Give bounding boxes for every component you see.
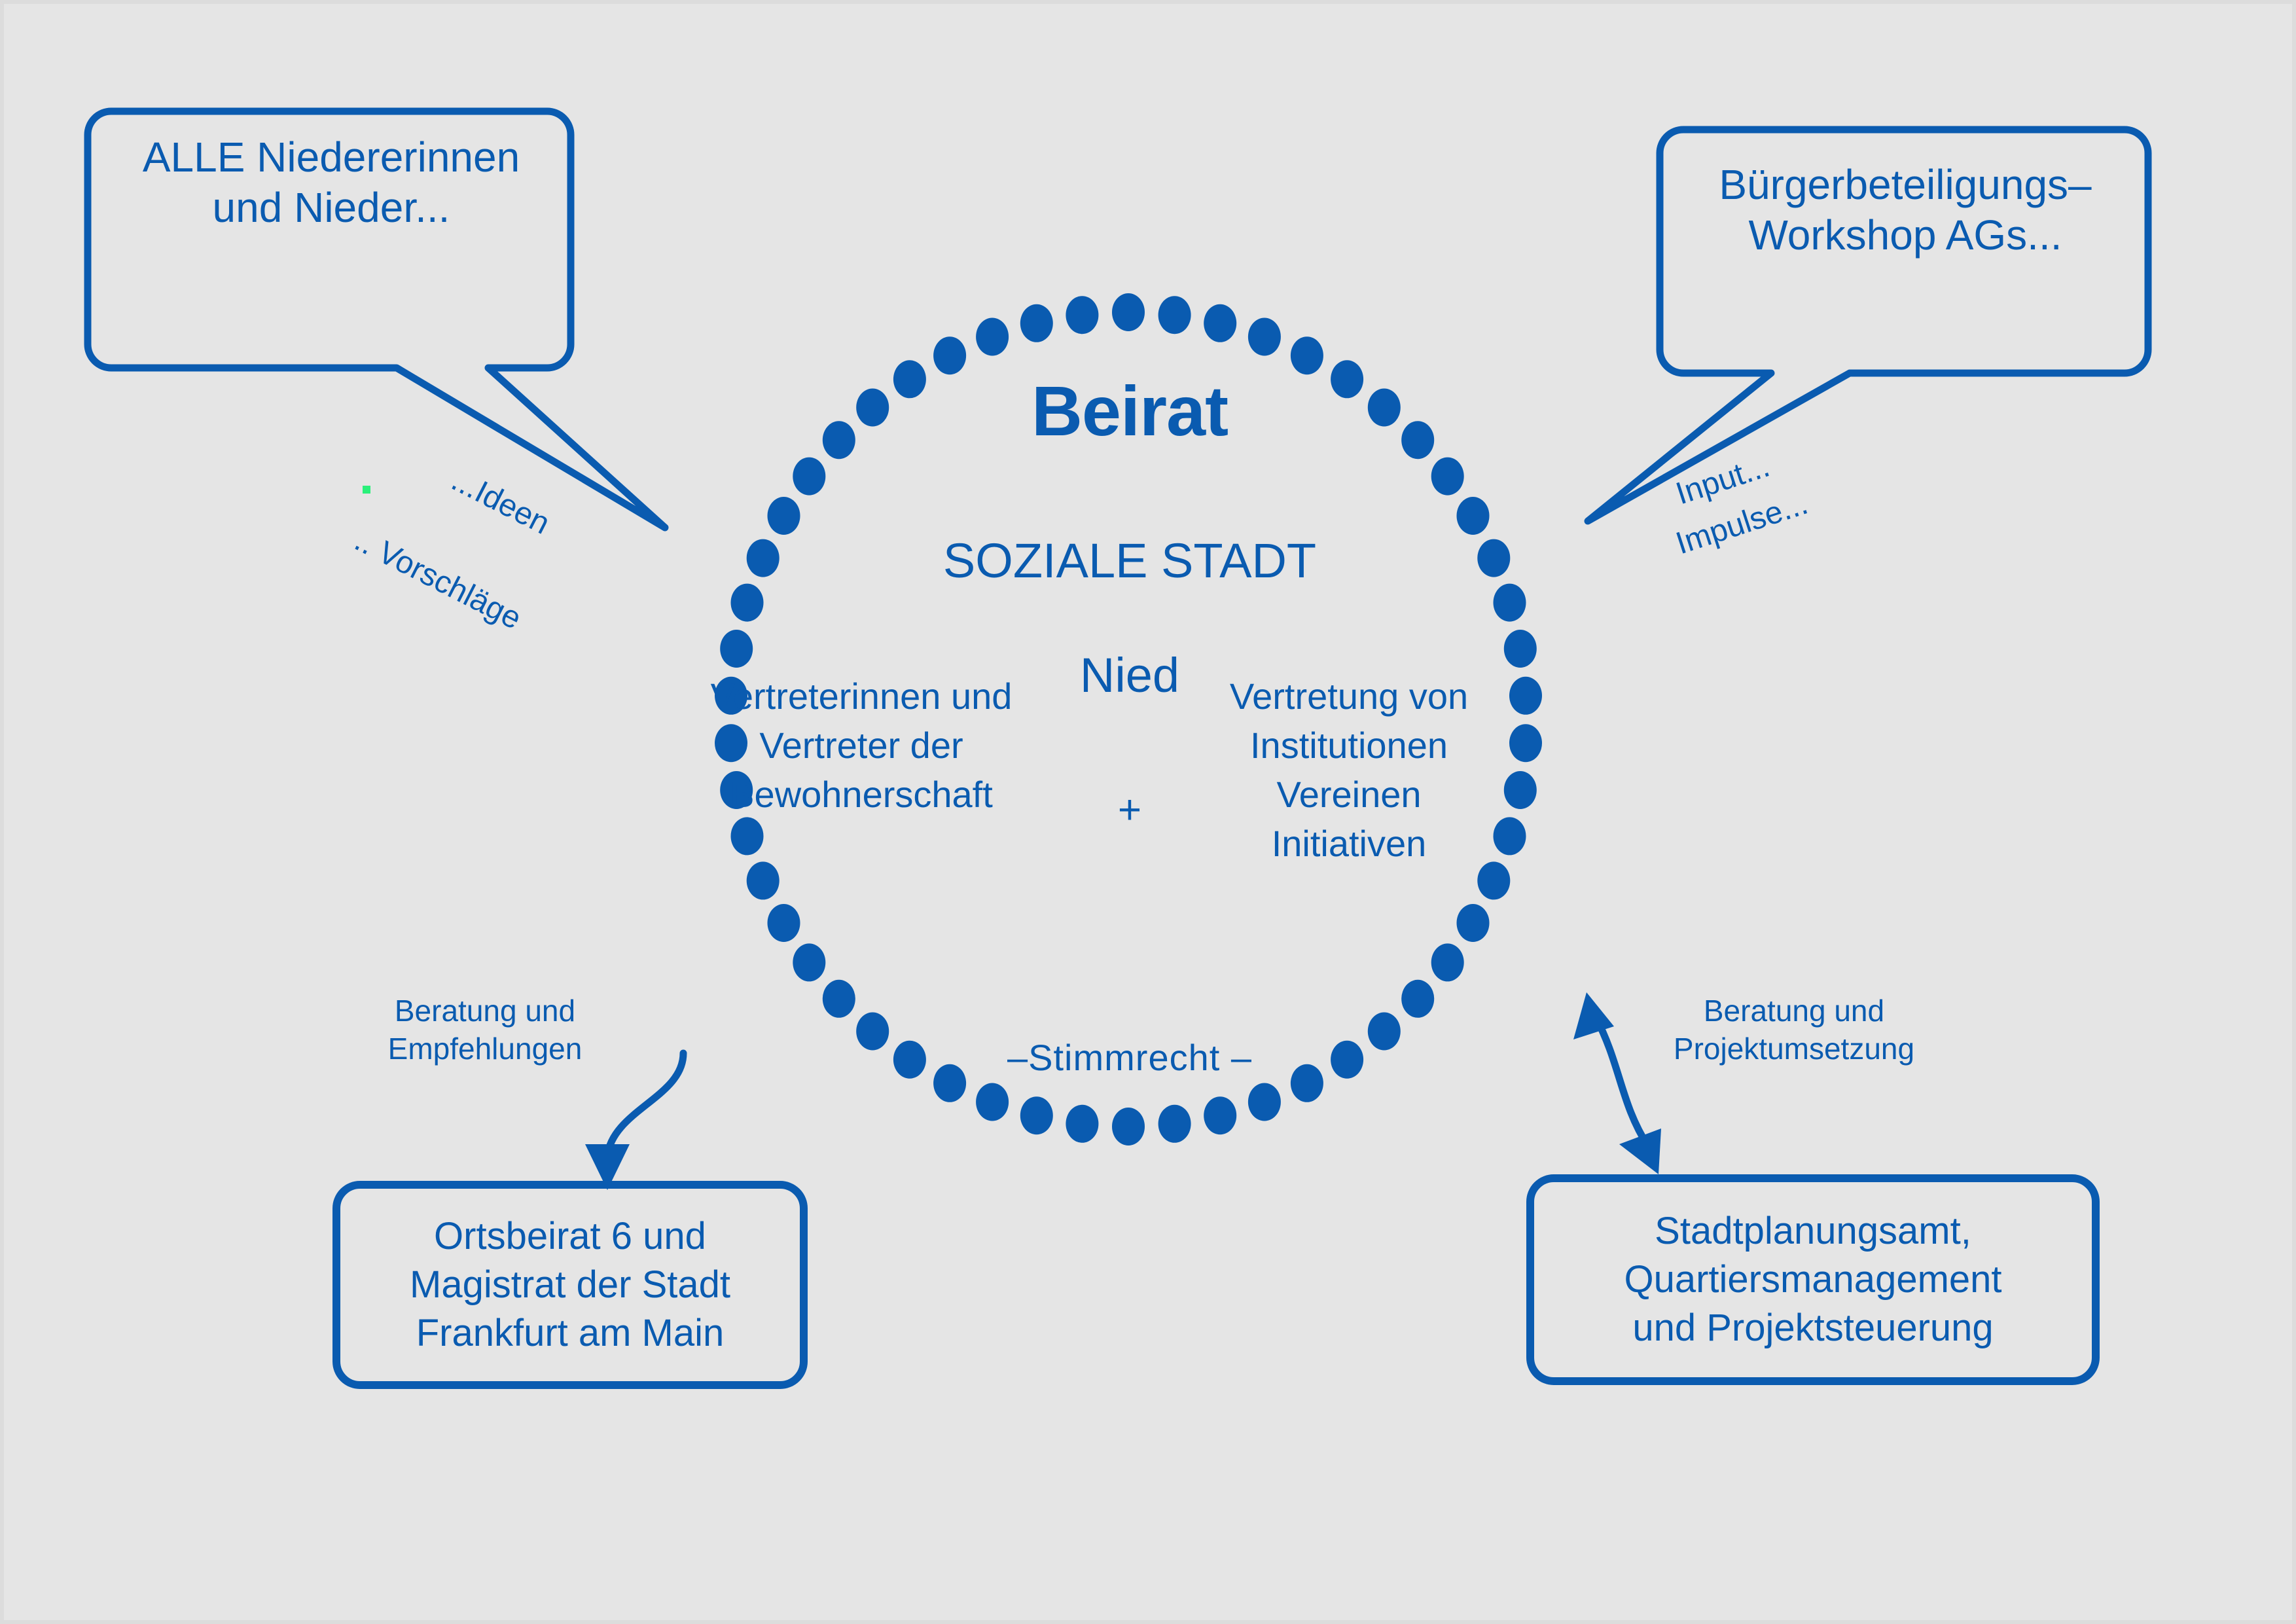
box-ortsbeirat-magistrat[interactable]: Ortsbeirat 6 und Magistrat der Stadt Fra… <box>332 1181 808 1389</box>
circle-dot <box>720 630 753 668</box>
bubble-left-label: ALLE Niedererinnen und Nieder... <box>102 132 560 233</box>
circle-dot <box>747 539 780 577</box>
circle-dot <box>731 584 764 622</box>
circle-dot <box>793 943 825 981</box>
circle-dot <box>1066 1105 1098 1143</box>
circle-dot <box>1248 1083 1281 1121</box>
circle-dot <box>1509 724 1542 762</box>
page-title: Beirat <box>776 370 1483 451</box>
circle-subtitle-line1: SOZIALE STADT <box>776 532 1483 589</box>
diagram-canvas: ALLE Niedererinnen und Nieder... Bürgerb… <box>0 0 2296 1624</box>
circle-dot <box>1248 318 1281 356</box>
green-marker-dot <box>363 486 370 494</box>
circle-dot <box>1204 304 1236 342</box>
circle-dot <box>856 1013 889 1051</box>
circle-dot <box>1494 817 1526 855</box>
circle-dot <box>976 1083 1009 1121</box>
circle-dot <box>731 817 764 855</box>
circle-dot <box>1504 630 1537 668</box>
circle-dot <box>1291 336 1323 374</box>
circle-column-right: Vertretung von Institutionen Vereinen In… <box>1211 672 1486 868</box>
circle-dot <box>976 318 1009 356</box>
circle-dot <box>1368 1013 1401 1051</box>
circle-dot <box>1457 904 1490 942</box>
circle-column-left: Vertreterinnen und Vertreter der Bewohne… <box>691 672 1031 819</box>
arrow-left-down <box>585 1053 683 1190</box>
circle-dot <box>1401 980 1434 1018</box>
circle-dot <box>1158 1105 1191 1143</box>
circle-dot <box>1504 771 1537 809</box>
circle-dot <box>1494 584 1526 622</box>
circle-dot <box>1431 943 1464 981</box>
circle-dot <box>933 336 966 374</box>
label-beratung-empfehlungen: Beratung und Empfehlungen <box>344 992 626 1068</box>
circle-dot <box>1158 296 1191 334</box>
box-stadtplanungsamt[interactable]: Stadtplanungsamt, Quartiersmanagement un… <box>1526 1174 2100 1385</box>
stimmrecht-note: –Stimmrecht – <box>920 1037 1339 1079</box>
circle-dot <box>1204 1096 1236 1134</box>
label-beratung-projektumsetzung: Beratung und Projektumsetzung <box>1640 992 1948 1068</box>
circle-dot <box>1066 296 1098 334</box>
plus-connector: + <box>1071 783 1189 837</box>
bubble-right-label: Bürgerbeteiligungs– Workshop AGs... <box>1676 160 2134 261</box>
circle-dot <box>1509 677 1542 715</box>
circle-dot <box>1020 1096 1053 1134</box>
circle-dot <box>1020 304 1053 342</box>
circle-dot <box>768 904 800 942</box>
circle-dot <box>1112 293 1145 331</box>
circle-dot <box>747 861 780 899</box>
circle-dot <box>1112 1108 1145 1146</box>
circle-dot <box>823 980 855 1018</box>
